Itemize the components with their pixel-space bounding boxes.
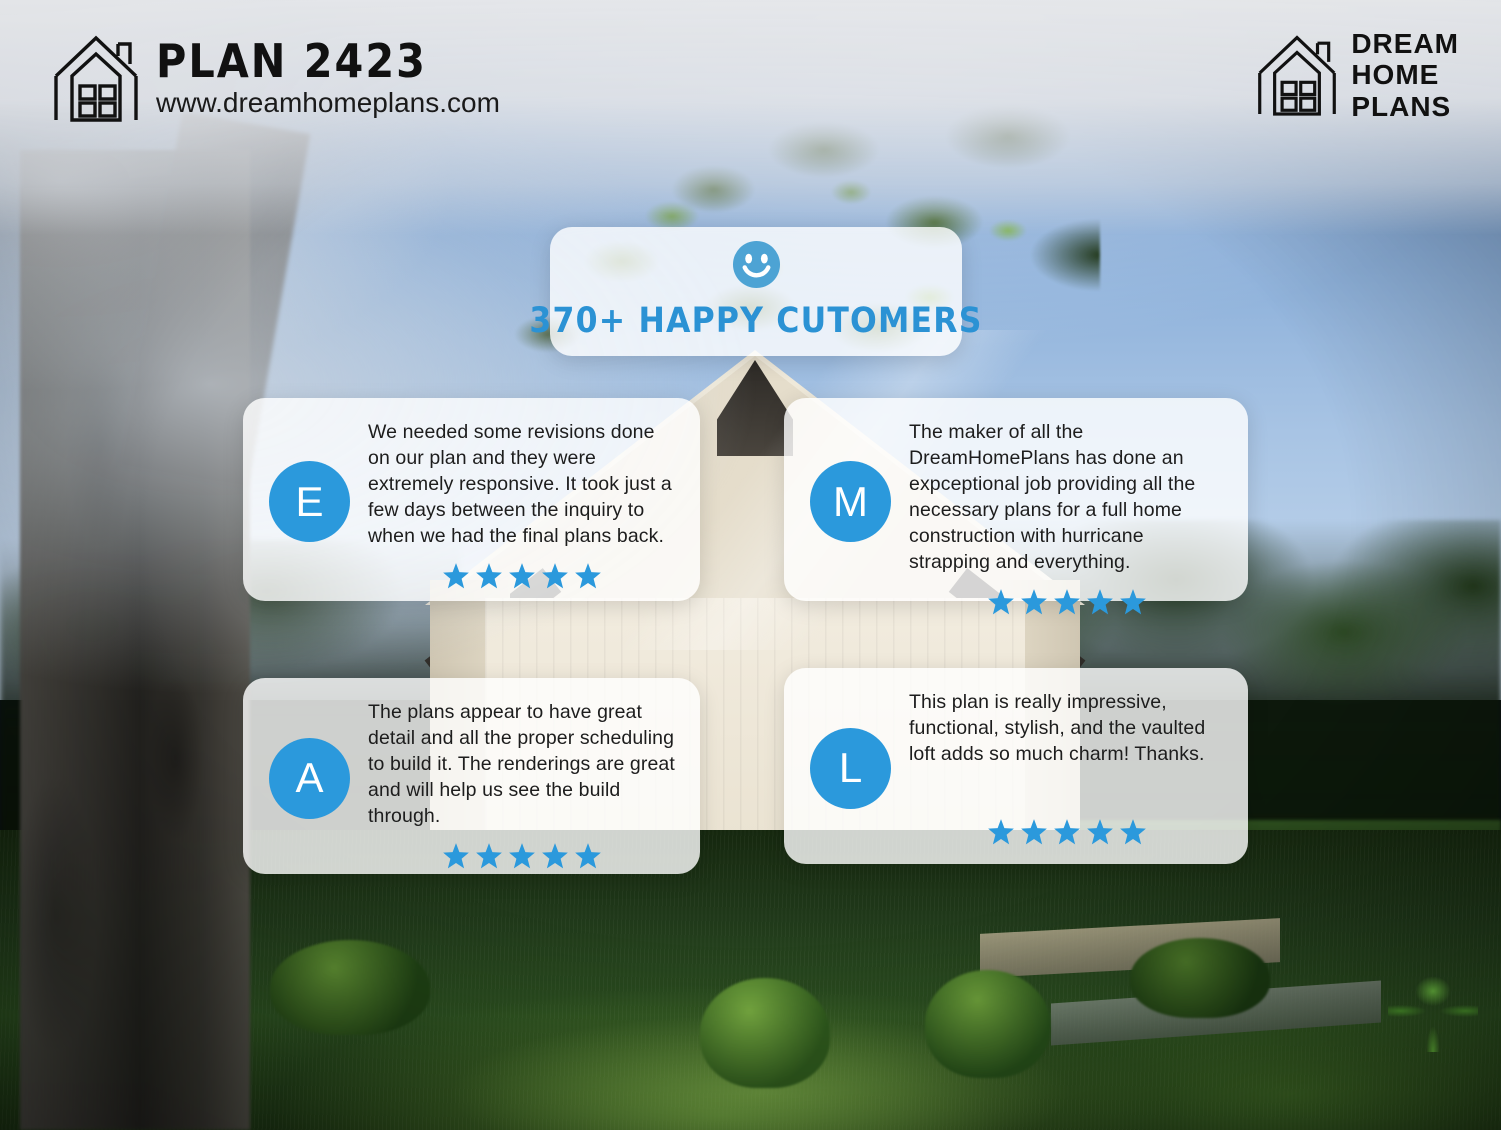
testimonial-card: M The maker of all the DreamHomePlans ha…: [784, 398, 1248, 601]
avatar: E: [269, 461, 350, 542]
testimonial-quote: We needed some revisions done on our pla…: [368, 420, 676, 550]
star-icon: [574, 842, 602, 870]
testimonial-card: L This plan is really impressive, functi…: [784, 668, 1248, 864]
testimonial-quote: The maker of all the DreamHomePlans has …: [909, 420, 1224, 576]
avatar: L: [810, 728, 891, 809]
brand-line-home: HOME: [1351, 59, 1459, 90]
brand-line-plans: PLANS: [1351, 91, 1459, 122]
star-icon: [987, 818, 1015, 846]
testimonials-overlay: 370+ HAPPY CUTOMERS E We needed some rev…: [0, 0, 1501, 1130]
page-title: PLAN 2423: [156, 38, 500, 84]
star-icon: [541, 842, 569, 870]
testimonial-body: This plan is really impressive, function…: [909, 690, 1224, 846]
happy-customers-banner: 370+ HAPPY CUTOMERS: [550, 227, 962, 356]
star-icon: [1119, 588, 1147, 616]
website-url[interactable]: www.dreamhomeplans.com: [156, 88, 500, 119]
house-outline-icon: [52, 30, 140, 127]
star-icon: [1020, 588, 1048, 616]
avatar: M: [810, 461, 891, 542]
brand-header-right: DREAM HOME PLANS: [1256, 28, 1459, 122]
star-icon: [475, 562, 503, 590]
star-rating: [368, 830, 676, 870]
testimonial-quote: The plans appear to have great detail an…: [368, 700, 676, 830]
star-icon: [508, 842, 536, 870]
testimonial-quote: This plan is really impressive, function…: [909, 690, 1224, 768]
star-icon: [508, 562, 536, 590]
smiley-face-icon: [732, 240, 781, 289]
star-icon: [1086, 588, 1114, 616]
testimonial-body: We needed some revisions done on our pla…: [368, 420, 676, 583]
star-icon: [442, 562, 470, 590]
testimonial-body: The plans appear to have great detail an…: [368, 700, 676, 856]
star-icon: [1053, 818, 1081, 846]
house-outline-icon: [1256, 30, 1338, 121]
brand-line-dream: DREAM: [1351, 28, 1459, 59]
screenshot-stage: PLAN 2423 www.dreamhomeplans.com DREAM H…: [0, 0, 1501, 1130]
happy-customers-title: 370+ HAPPY CUTOMERS: [529, 301, 982, 341]
star-rating: [368, 550, 676, 590]
star-icon: [574, 562, 602, 590]
star-icon: [1053, 588, 1081, 616]
star-rating: [909, 806, 1224, 846]
testimonial-body: The maker of all the DreamHomePlans has …: [909, 420, 1224, 583]
star-icon: [475, 842, 503, 870]
brand-header-left: PLAN 2423 www.dreamhomeplans.com: [52, 30, 500, 127]
star-icon: [1086, 818, 1114, 846]
star-icon: [442, 842, 470, 870]
testimonial-card: E We needed some revisions done on our p…: [243, 398, 700, 601]
testimonial-card: A The plans appear to have great detail …: [243, 678, 700, 874]
avatar: A: [269, 738, 350, 819]
star-icon: [987, 588, 1015, 616]
star-icon: [541, 562, 569, 590]
star-icon: [1119, 818, 1147, 846]
star-rating: [909, 576, 1224, 616]
star-icon: [1020, 818, 1048, 846]
